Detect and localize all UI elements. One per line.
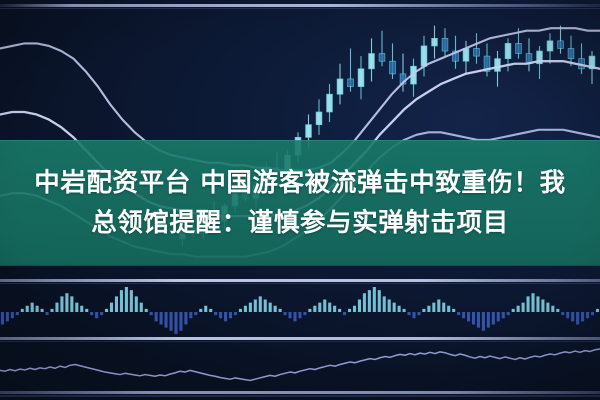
trend-line-panel: [0, 340, 600, 392]
histogram-chart-panel: [0, 282, 600, 338]
screenshot-root: 中岩配资平台 中国游客被流弹击中致重伤！我总领馆提醒：谨慎参与实弹射击项目: [0, 0, 600, 400]
trend-line-svg: [0, 340, 600, 392]
histogram-series: [1, 287, 599, 334]
headline-banner: 中岩配资平台 中国游客被流弹击中致重伤！我总领馆提醒：谨慎参与实弹射击项目: [0, 140, 600, 266]
headline-text: 中岩配资平台 中国游客被流弹击中致重伤！我总领馆提醒：谨慎参与实弹射击项目: [22, 163, 578, 243]
trend-line-path: [0, 349, 600, 381]
histogram-chart-svg: [0, 282, 600, 338]
